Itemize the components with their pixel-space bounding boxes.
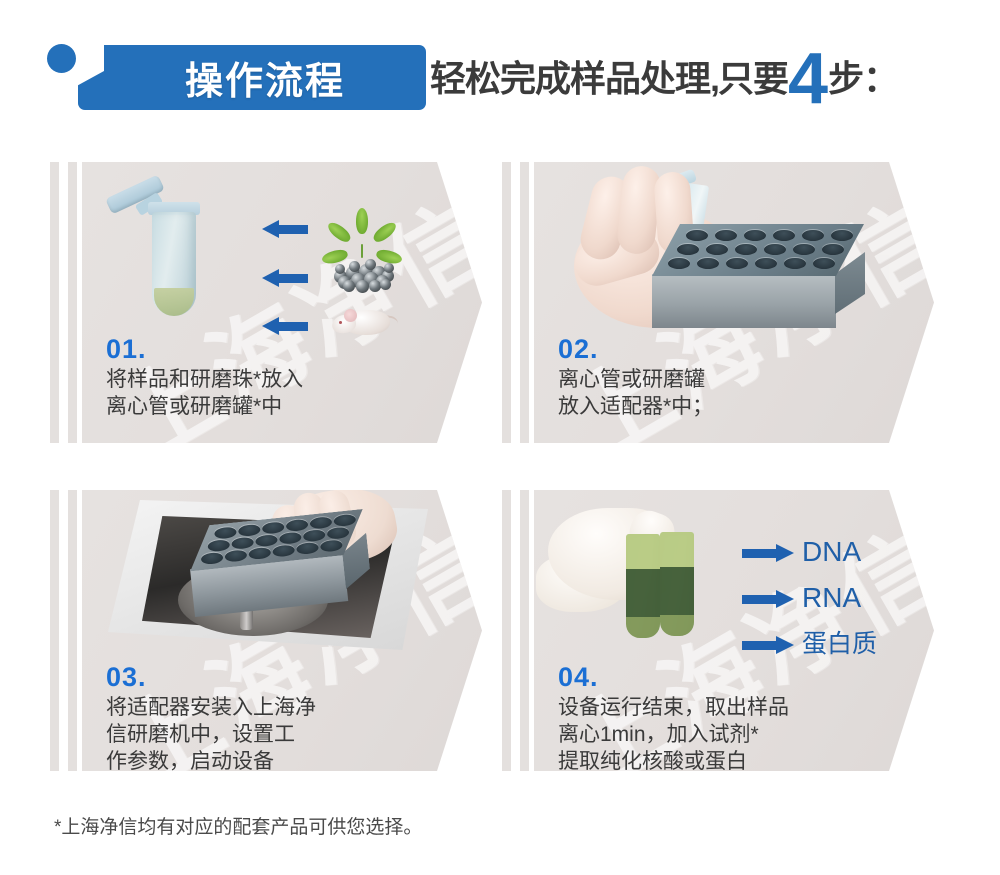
step-card-01: 上海净信: [50, 162, 482, 443]
step-card-body: 上海净信: [534, 490, 934, 771]
mouse-icon: [332, 302, 394, 338]
arrow-left-icon-1: [262, 220, 308, 238]
adapter-well: [715, 230, 737, 241]
adapter-well: [286, 519, 309, 532]
adapter-well: [697, 258, 719, 269]
adapter-well: [813, 258, 835, 269]
step-description: 离心管或研磨罐 放入适配器*中；: [558, 366, 918, 420]
adapter-well: [831, 230, 853, 241]
adapter-well: [764, 244, 786, 255]
arrow-right-icon-protein: [742, 636, 794, 654]
step-card-04: 上海净信: [502, 490, 934, 771]
adapter-well: [822, 244, 844, 255]
step-card-02: 上海净信 02. 离心管: [502, 162, 934, 443]
adapter-well: [726, 258, 748, 269]
adapter-well: [793, 244, 815, 255]
accent-bar-inner: [520, 490, 529, 771]
step-card-03: 上海净信: [50, 490, 482, 771]
step-03-illustration: [82, 490, 482, 668]
accent-bar-inner: [68, 490, 77, 771]
page-header: 操作流程 轻松完成样品处理,只要4步：: [0, 0, 1000, 140]
circle-dot-icon: [47, 44, 76, 73]
step-03-caption: 03. 将适配器安装入上海净 信研磨机中，设置工 作参数，启动设备: [106, 662, 466, 771]
tagline-suffix: 步：: [828, 58, 898, 99]
adapter-well: [214, 526, 237, 539]
step-01-illustration: [82, 162, 482, 337]
adapter-well: [784, 258, 806, 269]
step-01-caption: 01. 将样品和研磨珠*放入 离心管或研磨罐*中: [106, 334, 466, 420]
adapter-well: [744, 230, 766, 241]
adapter-well: [327, 527, 350, 540]
adapter-well: [207, 539, 230, 552]
adapter-well: [201, 552, 224, 565]
accent-bar-inner: [520, 162, 529, 443]
adapter-well: [320, 539, 343, 552]
step-card-body: 上海净信 02. 离心管: [534, 162, 934, 443]
output-label-protein: 蛋白质: [802, 630, 877, 658]
adapter-well: [802, 230, 824, 241]
section-badge-label: 操作流程: [78, 45, 426, 110]
sample-vial-icon-2: [660, 532, 694, 636]
accent-bar-outer: [50, 490, 59, 771]
adapter-block-icon: [652, 224, 864, 328]
adapter-well: [272, 544, 295, 557]
infographic-page: 操作流程 轻松完成样品处理,只要4步： 上海净信: [0, 0, 1000, 875]
arrow-right-icon-dna: [742, 544, 794, 562]
arrow-left-icon-2: [262, 269, 308, 287]
adapter-well: [238, 524, 261, 537]
adapter-well: [755, 258, 777, 269]
leaf-icon: [334, 204, 390, 256]
step-02-illustration: [534, 162, 934, 340]
footnote: *上海净信均有对应的配套产品可供您选择。: [54, 812, 422, 839]
adapter-well: [309, 516, 332, 529]
tagline-comma: ,: [710, 58, 718, 99]
step-02-caption: 02. 离心管或研磨罐 放入适配器*中；: [558, 334, 918, 420]
adapter-block-icon: [186, 509, 373, 619]
step-number: 03.: [106, 662, 466, 692]
step-description: 将样品和研磨珠*放入 离心管或研磨罐*中: [106, 366, 466, 420]
steps-grid: 上海净信: [0, 162, 1000, 802]
tagline-step-count: 4: [788, 39, 828, 119]
adapter-well: [248, 547, 271, 560]
step-number: 01.: [106, 334, 466, 364]
step-card-body: 上海净信: [82, 490, 482, 771]
page-title: 轻松完成样品处理,只要4步：: [430, 48, 898, 110]
adapter-well: [279, 532, 302, 545]
adapter-well: [231, 537, 254, 550]
output-label-dna: DNA: [802, 538, 861, 566]
adapter-well: [773, 230, 795, 241]
adapter-well: [303, 529, 326, 542]
step-number: 04.: [558, 662, 918, 692]
step-description: 将适配器安装入上海净 信研磨机中，设置工 作参数，启动设备: [106, 694, 466, 771]
adapter-well: [686, 230, 708, 241]
accent-bar-outer: [502, 490, 511, 771]
adapter-well: [668, 258, 690, 269]
arrow-left-icon-3: [262, 317, 308, 335]
step-description: 设备运行结束，取出样品 离心1min，加入试剂* 提取纯化核酸或蛋白: [558, 694, 918, 771]
tagline-prefix: 轻松完成样品处理: [430, 58, 710, 99]
adapter-well: [677, 244, 699, 255]
adapter-well: [706, 244, 728, 255]
step-04-illustration: DNA RNA 蛋白质: [534, 490, 934, 668]
tagline-mid: 只要: [718, 58, 788, 99]
adapter-well: [262, 521, 285, 534]
accent-bar-outer: [50, 162, 59, 443]
adapter-well: [224, 549, 247, 562]
sample-vial-icon-1: [626, 534, 660, 638]
adapter-well: [296, 542, 319, 555]
accent-bar-inner: [68, 162, 77, 443]
step-card-body: 上海净信: [82, 162, 482, 443]
accent-bar-outer: [502, 162, 511, 443]
centrifuge-tube-icon: [142, 184, 206, 319]
arrow-right-icon-rna: [742, 590, 794, 608]
adapter-well: [333, 514, 356, 527]
step-04-caption: 04. 设备运行结束，取出样品 离心1min，加入试剂* 提取纯化核酸或蛋白: [558, 662, 918, 771]
steel-beads-icon: [332, 256, 394, 290]
adapter-well: [255, 534, 278, 547]
adapter-well: [735, 244, 757, 255]
output-label-rna: RNA: [802, 584, 861, 612]
step-number: 02.: [558, 334, 918, 364]
